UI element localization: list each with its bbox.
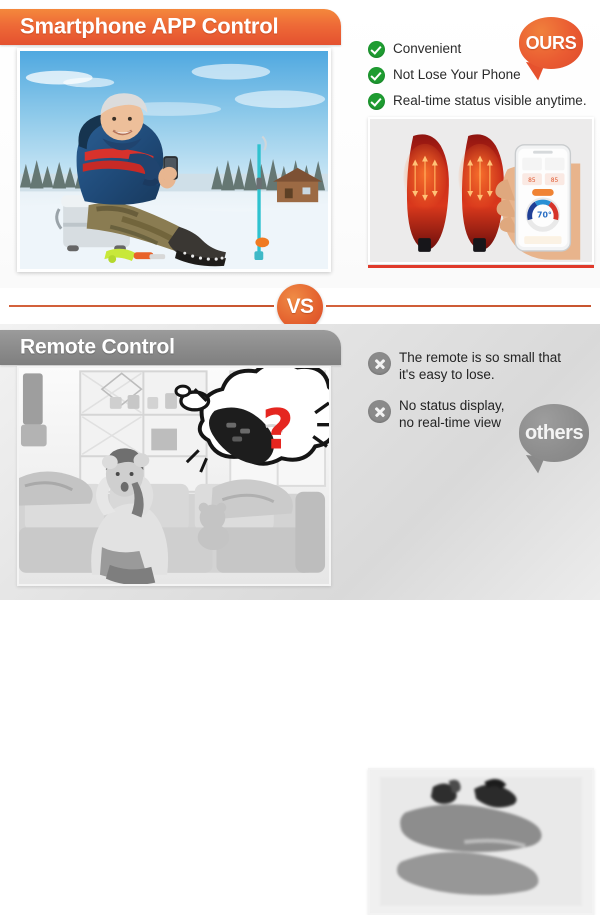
remote-control-header: Remote Control bbox=[0, 330, 341, 365]
check-circle-icon bbox=[368, 67, 385, 84]
others-section: Remote Control bbox=[0, 324, 600, 600]
drawback-label: No status display, no real-time view bbox=[399, 398, 505, 431]
benefit-label: Convenient bbox=[393, 40, 461, 57]
bottom-header-title: Remote Control bbox=[20, 335, 175, 359]
benefit-item: Real-time status visible anytime. bbox=[368, 92, 594, 110]
drawback-line-2: it's easy to lose. bbox=[399, 367, 561, 384]
check-circle-icon bbox=[368, 93, 385, 110]
heated-insoles-app-photo: 85 85 70° bbox=[368, 117, 594, 264]
question-mark-icon: ? bbox=[262, 398, 294, 462]
ours-section: Smartphone APP Control bbox=[0, 0, 600, 288]
check-circle-icon bbox=[368, 41, 385, 58]
x-circle-icon bbox=[368, 352, 391, 375]
vs-divider: VS bbox=[0, 288, 600, 324]
divider-line-right bbox=[326, 305, 591, 307]
comparison-infographic: Smartphone APP Control bbox=[0, 0, 600, 600]
insoles-with-phone-illustration: 85 85 70° bbox=[370, 119, 592, 262]
ours-badge: OURS bbox=[519, 17, 583, 69]
smartphone-app-control-header: Smartphone APP Control bbox=[0, 9, 341, 45]
others-badge: others bbox=[519, 404, 589, 462]
drawback-line-1: The remote is so small that bbox=[399, 350, 561, 365]
top-header-title: Smartphone APP Control bbox=[20, 13, 278, 39]
benefit-label: Not Lose Your Phone bbox=[393, 66, 521, 83]
others-badge-label: others bbox=[519, 404, 589, 462]
benefit-label: Real-time status visible anytime. bbox=[393, 92, 587, 109]
x-circle-icon bbox=[368, 400, 391, 423]
drawback-line-1: No status display, bbox=[399, 398, 505, 413]
others-insoles-photo bbox=[368, 768, 594, 915]
divider-line-left bbox=[9, 305, 274, 307]
ice-fishing-photo bbox=[17, 48, 331, 272]
blurred-insoles-illustration bbox=[370, 770, 592, 913]
ice-fishing-illustration bbox=[20, 51, 328, 269]
frustrated-woman-photo: ? bbox=[17, 366, 331, 586]
drawback-label: The remote is so small that it's easy to… bbox=[399, 350, 561, 383]
product-red-underline bbox=[368, 265, 594, 268]
drawback-line-2: no real-time view bbox=[399, 415, 505, 432]
svg-text:85: 85 bbox=[528, 178, 536, 184]
living-room-illustration: ? bbox=[19, 368, 329, 584]
app-gauge-value: 70° bbox=[537, 211, 552, 220]
vs-badge-label: VS bbox=[287, 295, 314, 319]
drawback-item: The remote is so small that it's easy to… bbox=[368, 350, 594, 383]
svg-text:85: 85 bbox=[551, 178, 559, 184]
ours-badge-label: OURS bbox=[519, 17, 583, 69]
phone-with-app: 85 85 70° bbox=[515, 145, 570, 251]
